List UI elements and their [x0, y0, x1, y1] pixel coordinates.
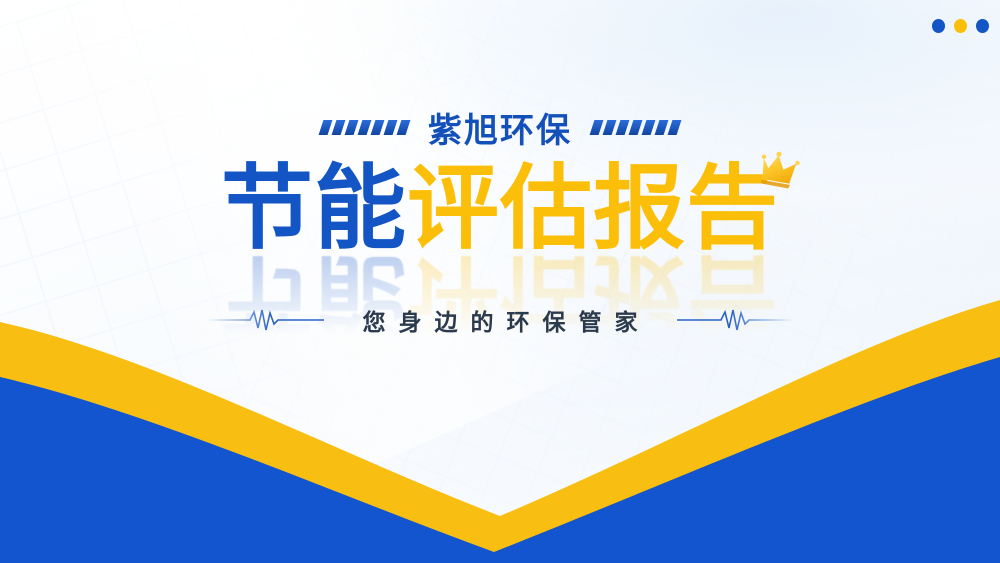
- tick-dashes-right-icon: [592, 120, 679, 135]
- dot-blue-2-icon: [976, 19, 989, 33]
- title-part-blue: 节能: [221, 155, 407, 262]
- wave-blue-right: [494, 357, 1000, 563]
- page-title: 节能评估报告: [0, 163, 1000, 255]
- tick-dashes-left-icon: [321, 120, 408, 135]
- presentation-cover-slide: 紫旭环保 节能评估报告 节能评估报告: [0, 0, 1000, 563]
- dot-blue-1-icon: [932, 19, 945, 33]
- bottom-wave-decoration: [0, 300, 1000, 563]
- dot-gold-icon: [954, 19, 967, 33]
- decorative-dots: [932, 19, 989, 33]
- wave-blue-left: [0, 377, 494, 563]
- title-text: 节能评估报告: [221, 163, 779, 255]
- title-part-gold: 评估报告: [407, 155, 779, 262]
- brand-row: 紫旭环保: [0, 103, 1000, 152]
- brand-name: 紫旭环保: [428, 103, 572, 152]
